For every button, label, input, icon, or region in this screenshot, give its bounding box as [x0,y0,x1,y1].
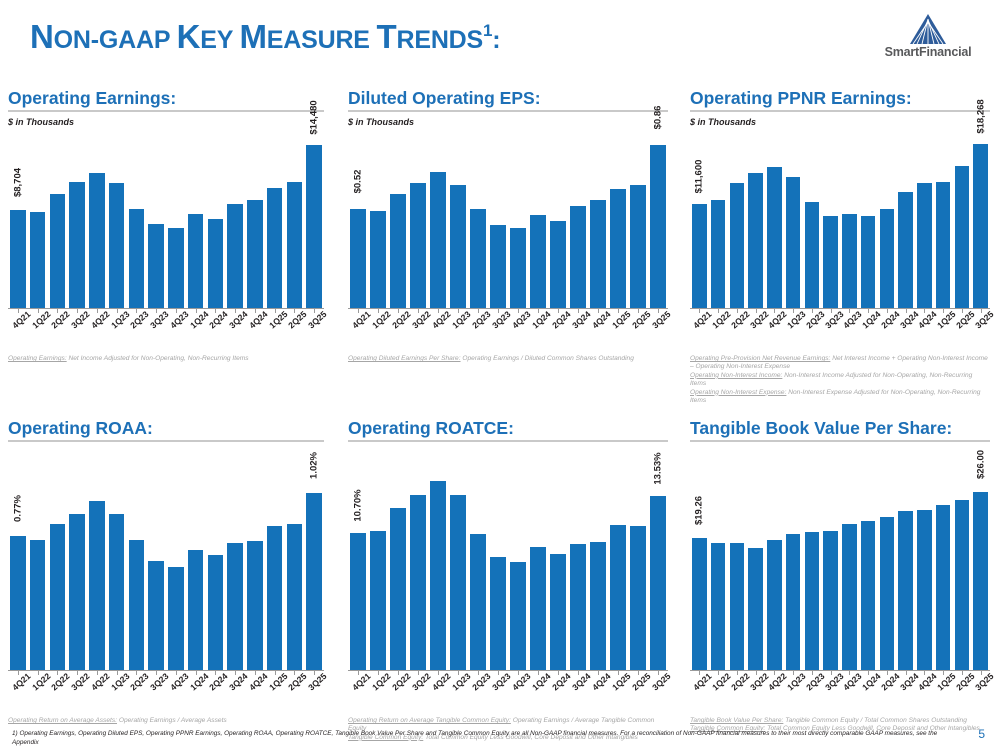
x-axis-label: 4Q23 [166,314,186,352]
bar [168,228,183,308]
bar-slot [206,128,226,308]
bar-slot: 1.02% [304,458,324,670]
x-axis-label: 1Q25 [934,676,953,714]
x-axis-label: 3Q25 [648,676,668,714]
x-axis-labels: 4Q211Q222Q223Q224Q221Q232Q233Q234Q231Q24… [690,314,990,352]
bar-slot [67,458,87,670]
logo-text: SmartFinancial [869,45,987,59]
page-number: 5 [978,727,985,741]
chart-subtitle: $ in Thousands [690,117,990,128]
bar [188,550,203,670]
bar-value-label: $14,480 [309,100,320,134]
chart-subtitle: $ in Thousands [348,117,668,128]
x-axis-label: 3Q25 [648,314,668,352]
x-axis-label: 1Q23 [784,676,803,714]
x-axis-label: 1Q25 [265,676,285,714]
bar-slot [428,128,448,308]
bar [530,215,546,308]
x-axis-label: 2Q23 [468,314,488,352]
bar-slot: $14,480 [304,128,324,308]
x-axis-label: 1Q23 [107,676,127,714]
x-axis-label: 1Q23 [107,314,127,352]
bar [692,538,707,670]
chart-note-term: Operating Return on Average Assets: [8,717,117,724]
chart-note-term: Operating Non-Interest Expense: [690,389,786,396]
bar-value-label: $26.00 [975,450,986,479]
bar [287,524,302,670]
bar [306,493,321,670]
bar [69,514,84,670]
x-axis-label: 3Q24 [225,676,245,714]
bar-series: $11,600$18,268 [690,128,990,308]
bar-slot [608,458,628,670]
title-rule [8,110,324,112]
bar [973,492,988,670]
bar [711,543,726,670]
chart-title: Operating ROAA: [8,418,324,438]
x-axis-label: 4Q21 [690,314,709,352]
bar [410,495,426,670]
x-axis-label: 3Q23 [146,314,166,352]
bar-slot [127,458,147,670]
bar [30,212,45,308]
x-axis-label: 4Q22 [428,676,448,714]
bar-slot [709,128,728,308]
bar-slot [548,128,568,308]
x-axis-label: 2Q25 [628,314,648,352]
x-axis-label: 4Q22 [87,676,107,714]
x-axis-label: 2Q24 [206,676,226,714]
bar-slot [285,128,305,308]
x-axis-label: 3Q24 [896,314,915,352]
bar-slot [107,458,127,670]
bar [129,209,144,309]
bar [109,183,124,308]
x-axis-label: 1Q24 [859,676,878,714]
bar-slot: $8,704 [8,128,28,308]
chart-notes: Operating Return on Average Assets: Oper… [8,717,324,725]
chart-title: Operating PPNR Earnings: [690,88,990,108]
bar-value-label: 1.02% [309,452,320,479]
x-axis-label: 4Q24 [245,676,265,714]
bar-slot [67,128,87,308]
bar [711,200,726,308]
bar [936,505,951,670]
chart-note: Operating Non-Interest Income: Non-Inter… [690,372,990,389]
chart-subtitle [8,447,324,458]
x-axis-label: 3Q23 [821,314,840,352]
bar [898,192,913,308]
bar [208,219,223,308]
bar-chart: 0.77%1.02% 4Q211Q222Q223Q224Q221Q232Q233… [8,458,324,714]
bar-slot: $0.86 [648,128,668,308]
bar-value-label: $8,704 [12,168,23,197]
x-axis-label: 2Q22 [728,314,747,352]
bar-series: $19.26$26.00 [690,458,990,670]
chart-title: Operating ROATCE: [348,418,668,438]
x-axis-label: 1Q24 [186,314,206,352]
x-axis-label: 2Q25 [285,314,305,352]
x-axis-label: 1Q22 [368,676,388,714]
bar-slot [468,128,488,308]
bar [168,567,183,670]
x-axis-label: 3Q23 [146,676,166,714]
x-axis-labels: 4Q211Q222Q223Q224Q221Q232Q233Q234Q231Q24… [8,314,324,352]
chart-subtitle [348,447,668,458]
bar-value-label: 0.77% [12,495,23,522]
bar [786,177,801,308]
chart-subtitle [690,447,990,458]
bar [805,202,820,308]
bar-slot [840,128,859,308]
bar-slot [746,128,765,308]
bar-slot [127,128,147,308]
bar-slot [186,128,206,308]
bar-slot [285,458,305,670]
panel-diluted-operating-eps: Diluted Operating EPS: $ in Thousands $0… [348,88,668,363]
chart-note-term: Operating Non-Interest Income: [690,372,782,379]
bar-slot [608,128,628,308]
bar [306,145,321,308]
page-title-e: EY [200,26,239,54]
bar [490,225,506,308]
page-title-i: RENDS [397,26,484,54]
bar [590,542,606,670]
chart-note: Operating Diluted Earnings Per Share: Op… [348,355,668,363]
x-axis-label: 1Q23 [448,314,468,352]
bar-slot [915,128,934,308]
x-axis-label: 4Q22 [765,676,784,714]
x-axis-label: 1Q24 [186,676,206,714]
bar [247,541,262,670]
bar [208,555,223,670]
bar [880,209,895,308]
bar-slot [821,128,840,308]
x-axis-label: 3Q25 [971,314,990,352]
chart-title: Tangible Book Value Per Share: [690,418,990,438]
x-axis-label: 2Q22 [48,314,68,352]
page-title-c: -GAAP [91,26,177,54]
bar [10,210,25,308]
x-axis-label: 3Q22 [408,676,428,714]
bar [530,547,546,670]
x-axis-label: 4Q23 [840,676,859,714]
bar [287,182,302,308]
bar-slot [765,458,784,670]
bar-slot [508,458,528,670]
bar-slot [568,458,588,670]
bar-slot: 0.77% [8,458,28,670]
bar [148,561,163,670]
x-axis-label: 3Q24 [896,676,915,714]
x-axis-label: 4Q22 [428,314,448,352]
bar-chart: $8,704$14,480 4Q211Q222Q223Q224Q221Q232Q… [8,128,324,352]
title-rule [690,440,990,442]
bar [89,173,104,308]
bar-slot [28,128,48,308]
bar [570,544,586,670]
bar-slot [107,128,127,308]
bar-slot [28,458,48,670]
bar [805,532,820,670]
bar-series: 10.70%13.53% [348,458,668,670]
bar [470,209,486,308]
bar-slot [388,458,408,670]
bar [880,517,895,670]
x-axis-label: 2Q23 [468,676,488,714]
x-axis-label: 2Q22 [48,676,68,714]
bar-slot [428,458,448,670]
bar [430,172,446,308]
bar [148,224,163,308]
bar-value-label: $18,268 [975,99,986,133]
bar-chart: $19.26$26.00 4Q211Q222Q223Q224Q221Q232Q2… [690,458,990,714]
page-title-colon: : [492,26,500,54]
bar [267,188,282,308]
bar [50,194,65,308]
bar-slot [840,458,859,670]
bar [30,540,45,670]
x-axis-label: 3Q23 [488,676,508,714]
bar [650,145,666,308]
bar-slot [548,458,568,670]
x-axis-labels: 4Q211Q222Q223Q224Q221Q232Q233Q234Q231Q24… [8,676,324,714]
x-axis-label: 1Q22 [368,314,388,352]
bar-slot [896,458,915,670]
bar [748,548,763,670]
title-rule [348,110,668,112]
panel-operating-earnings: Operating Earnings: $ in Thousands $8,70… [8,88,324,363]
bar-slot [146,458,166,670]
bar [550,554,566,670]
x-axis-label: 2Q24 [548,314,568,352]
x-axis-label: 4Q23 [166,676,186,714]
title-rule [690,110,990,112]
bar [630,526,646,670]
x-axis-label: 1Q22 [28,314,48,352]
bar-slot [628,458,648,670]
bar-slot [784,458,803,670]
page-title-d: K [177,18,201,55]
bar [898,511,913,670]
x-axis-label: 3Q22 [408,314,428,352]
x-axis-label: 2Q23 [127,676,147,714]
bar-slot [245,128,265,308]
bar-slot [265,128,285,308]
bar [748,173,763,308]
bar [786,534,801,670]
bar [610,525,626,670]
bar-slot [265,458,285,670]
bar-slot [48,458,68,670]
x-axis-label: 3Q24 [568,314,588,352]
bar [510,228,526,308]
bar-slot [388,128,408,308]
x-axis-label: 1Q23 [784,314,803,352]
bar [590,200,606,308]
chart-note: Tangible Book Value Per Share: Tangible … [690,717,990,725]
bar [650,496,666,670]
bar-chart: $0.52$0.86 4Q211Q222Q223Q224Q221Q232Q233… [348,128,668,352]
chart-subtitle: $ in Thousands [8,117,324,128]
bar-slot [87,128,107,308]
x-axis-labels: 4Q211Q222Q223Q224Q221Q232Q233Q234Q231Q24… [348,676,668,714]
bar [50,524,65,670]
bar [917,183,932,308]
bar-slot: $26.00 [971,458,990,670]
bar-slot [166,128,186,308]
bar-slot [528,128,548,308]
bar-slot [934,128,953,308]
page-title: NON-GAAP KEY MEASURE TRENDS1: [30,18,500,56]
bar [917,510,932,670]
page-title-h: T [377,18,397,55]
bar-chart: 10.70%13.53% 4Q211Q222Q223Q224Q221Q232Q2… [348,458,668,714]
x-axis-label: 2Q23 [803,676,822,714]
page-title-superscript: 1 [483,21,492,40]
bar-slot [186,458,206,670]
x-axis-label: 4Q21 [8,676,28,714]
x-axis-label: 3Q25 [304,676,324,714]
panel-operating-roatce: Operating ROATCE: 10.70%13.53% 4Q211Q222… [348,418,668,742]
title-rule [348,440,668,442]
chart-note-term: Operating Return on Average Tangible Com… [348,717,511,724]
company-logo: SmartFinancial [869,14,987,64]
x-axis-label: 1Q22 [28,676,48,714]
bar [470,534,486,670]
x-axis-label: 3Q22 [746,676,765,714]
chart-note: Operating Return on Average Assets: Oper… [8,717,324,725]
x-axis-label: 4Q21 [8,314,28,352]
bar [410,183,426,308]
bar-slot [225,128,245,308]
x-axis-labels: 4Q211Q222Q223Q224Q221Q232Q233Q234Q231Q24… [348,314,668,352]
bar-slot [821,458,840,670]
x-axis-label: 2Q23 [127,314,147,352]
chart-note: Operating Non-Interest Expense: Non-Inte… [690,389,990,406]
panel-operating-ppnr-earnings: Operating PPNR Earnings: $ in Thousands … [690,88,990,405]
bar-slot: $19.26 [690,458,709,670]
title-rule [8,440,324,442]
bar-slot [568,128,588,308]
bar-slot [896,128,915,308]
x-axis-label: 3Q24 [568,676,588,714]
bar-slot [468,458,488,670]
bar-slot [803,128,822,308]
bar-slot [765,128,784,308]
bar-slot [728,458,747,670]
chart-note-term: Operating Earnings: [8,355,67,362]
x-axis-label: 2Q24 [878,314,897,352]
bar-slot [915,458,934,670]
bar [267,526,282,670]
bar-slot [628,128,648,308]
x-axis-label: 4Q21 [348,676,368,714]
bar [510,562,526,670]
x-axis-label: 1Q25 [934,314,953,352]
bar [630,185,646,308]
x-axis-label: 2Q22 [728,676,747,714]
bar-slot [953,458,972,670]
chart-note: Operating Earnings: Net Income Adjusted … [8,355,324,363]
bar [89,501,104,670]
x-axis-label: 4Q24 [915,314,934,352]
bar [450,185,466,308]
x-axis-label: 1Q24 [528,314,548,352]
bar-slot: 10.70% [348,458,368,670]
x-axis-label: 1Q24 [859,314,878,352]
bar-slot [859,128,878,308]
bar-slot [206,458,226,670]
x-axis-label: 2Q24 [878,676,897,714]
chart-note-term: Operating Diluted Earnings Per Share: [348,355,461,362]
x-axis-label: 3Q22 [67,676,87,714]
x-axis-label: 4Q22 [765,314,784,352]
x-axis-label: 1Q25 [608,676,628,714]
bar-value-label: $0.52 [353,170,364,194]
bar [936,182,951,308]
bar [350,533,366,670]
bar [767,167,782,308]
bar-slot [488,128,508,308]
bar [350,209,366,308]
panel-tangible-book-value-per-share: Tangible Book Value Per Share: $19.26$26… [690,418,990,734]
bar [570,206,586,308]
bar [730,183,745,308]
bar [247,200,262,308]
bar [430,481,446,670]
x-axis-label: 4Q23 [508,314,528,352]
bar-slot: 13.53% [648,458,668,670]
chart-note: Operating Pre-Provision Net Revenue Earn… [690,355,990,372]
bar-slot [953,128,972,308]
bar [861,521,876,670]
bar [390,508,406,670]
bar [610,189,626,308]
bar [129,540,144,670]
x-axis-label: 2Q23 [803,314,822,352]
bar [955,166,970,308]
bar [370,531,386,670]
x-axis-label: 2Q25 [285,676,305,714]
bar [10,536,25,670]
x-axis-label: 4Q24 [588,314,608,352]
bar [973,144,988,308]
bar-slot: $18,268 [971,128,990,308]
bar-slot [709,458,728,670]
x-axis-label: 4Q23 [508,676,528,714]
x-axis-label: 3Q22 [67,314,87,352]
bar-slot [528,458,548,670]
bar-value-label: $19.26 [694,496,705,525]
x-axis-labels: 4Q211Q222Q223Q224Q221Q232Q233Q234Q231Q24… [690,676,990,714]
bar [955,500,970,670]
x-axis-label: 1Q24 [528,676,548,714]
bar [227,543,242,670]
x-axis-label: 3Q25 [971,676,990,714]
x-axis-label: 2Q25 [628,676,648,714]
bar-slot [934,458,953,670]
chart-note-term: Tangible Book Value Per Share: [690,717,783,724]
bar-slot [87,458,107,670]
chart-note-term: Operating Pre-Provision Net Revenue Earn… [690,355,830,362]
x-axis-label: 2Q25 [953,314,972,352]
bar-slot: $0.52 [348,128,368,308]
bar-slot [728,128,747,308]
page-title-b: ON [54,26,91,54]
bar-slot [225,458,245,670]
bar [842,214,857,308]
